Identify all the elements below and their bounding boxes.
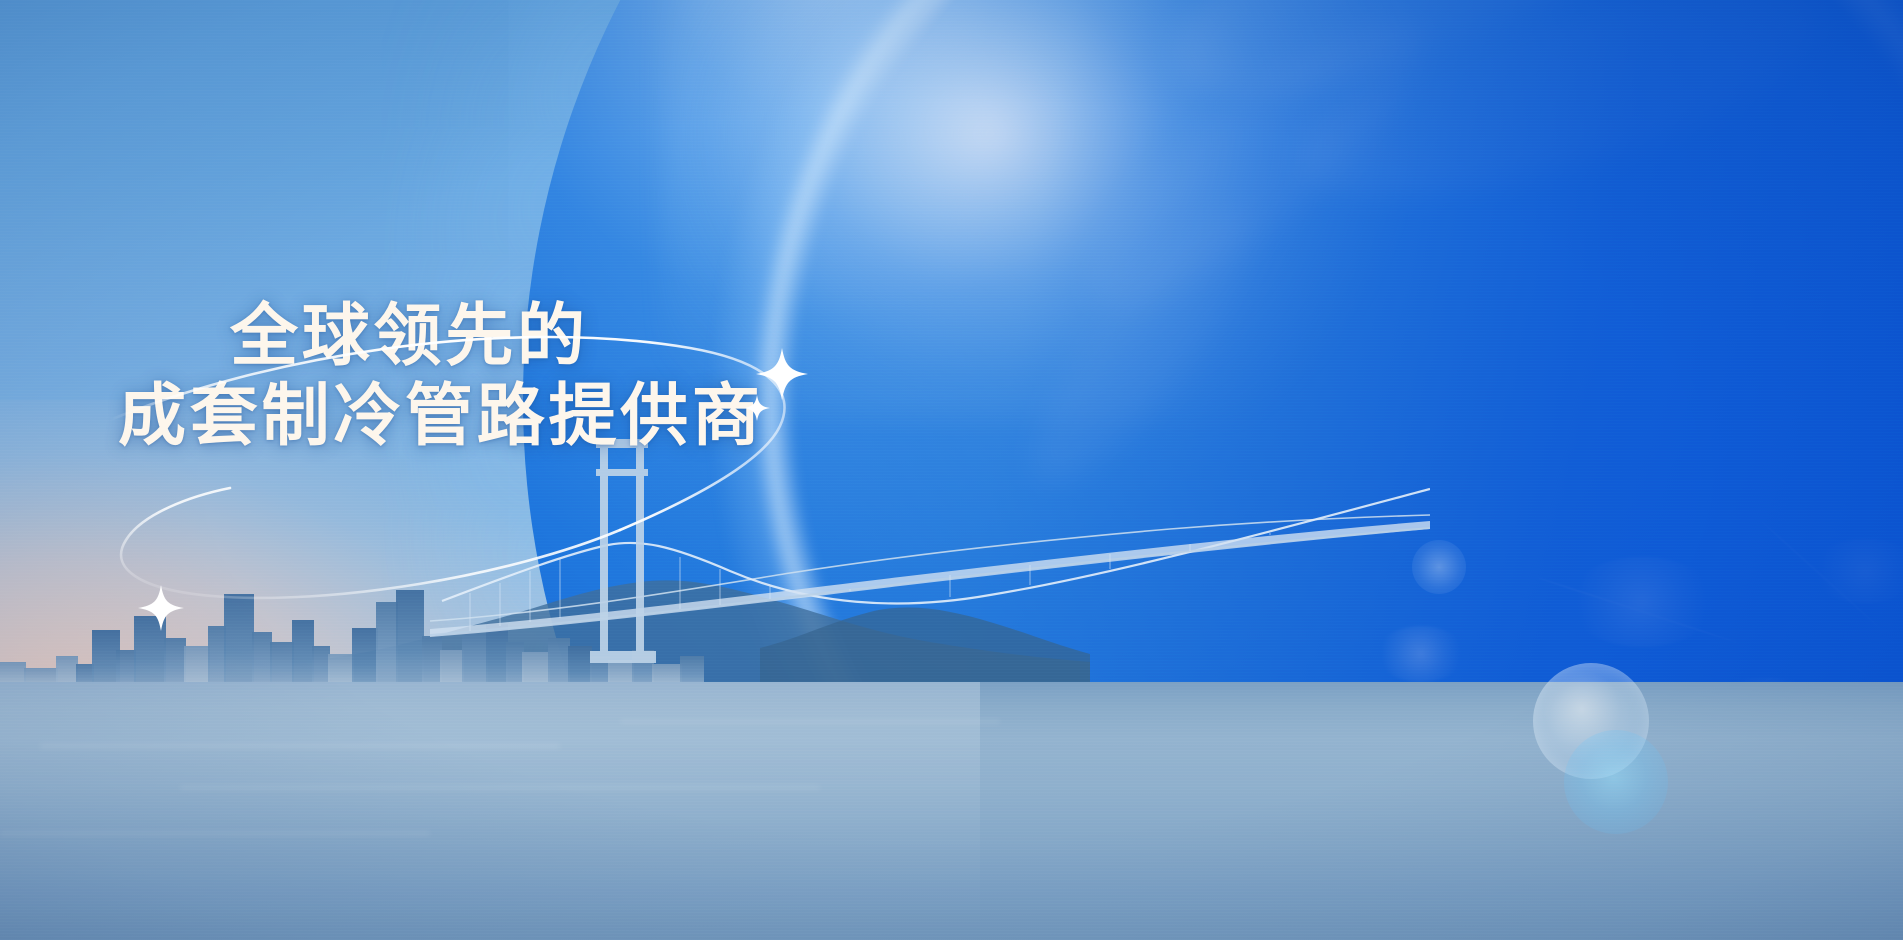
water-streak — [0, 832, 430, 835]
water-sheen — [0, 682, 980, 940]
headline-line-1: 全球领先的 — [118, 296, 858, 376]
hero-banner: 全球领先的 成套制冷管路提供商 — [0, 0, 1903, 940]
harbor-water — [0, 682, 1903, 940]
water-streak — [180, 786, 820, 789]
water-streak — [40, 744, 560, 748]
headline-line-2: 成套制冷管路提供商 — [118, 376, 858, 456]
headline-block: 全球领先的 成套制冷管路提供商 — [118, 296, 858, 456]
water-streak — [620, 720, 1000, 723]
